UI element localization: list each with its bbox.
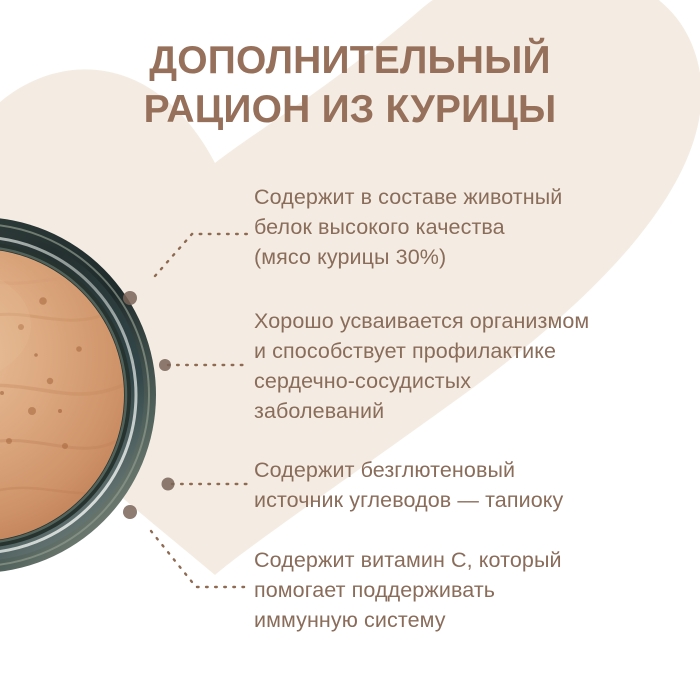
benefit-text-gluten-free-carbs: Содержит безглютеновый источник углеводо…	[254, 455, 563, 515]
benefit-text-animal-protein: Содержит в составе животный белок высоко…	[254, 182, 562, 272]
promo-slide: ДОПОЛНИТЕЛЬНЫЙ РАЦИОН ИЗ КУРИЦЫ	[0, 0, 700, 700]
connector-marker-1	[159, 359, 171, 371]
connector-marker-0	[123, 291, 137, 305]
benefit-text-vitamin-c: Содержит витамин С, который помогает под…	[254, 545, 562, 635]
chicken-pate-can-photo	[0, 205, 168, 585]
connector-line-0	[155, 234, 248, 276]
benefit-text-digestibility: Хорошо усваивается организмом и способст…	[254, 306, 589, 426]
connector-line-3	[151, 531, 248, 587]
connector-marker-2	[162, 478, 175, 491]
page-title: ДОПОЛНИТЕЛЬНЫЙ РАЦИОН ИЗ КУРИЦЫ	[0, 36, 700, 134]
connector-marker-3	[123, 505, 137, 519]
